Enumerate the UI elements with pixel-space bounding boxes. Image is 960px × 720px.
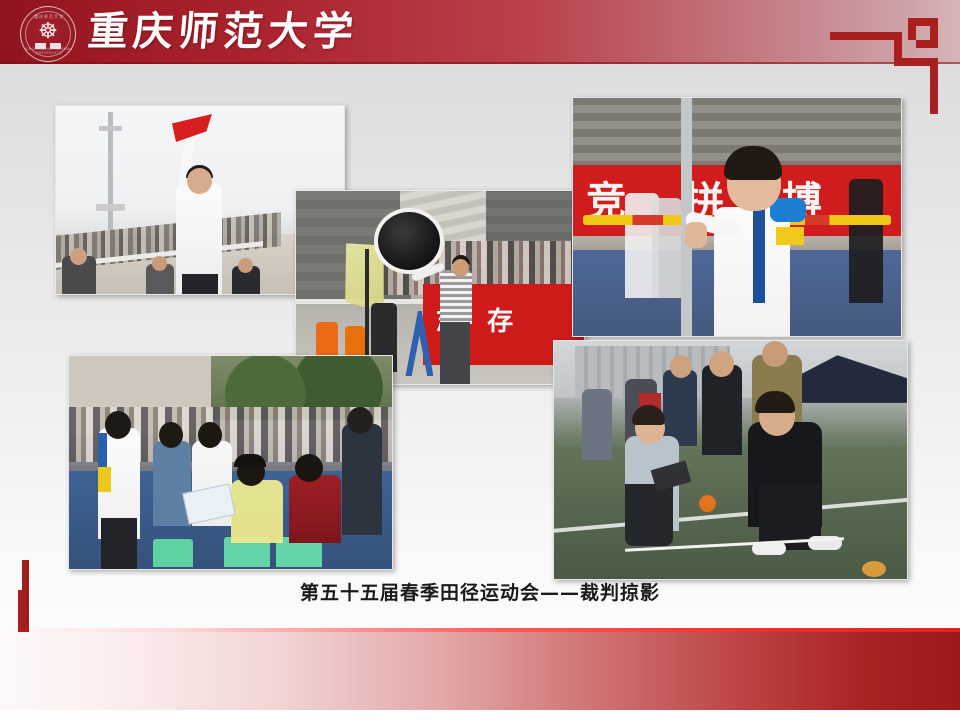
seal-emblem-icon: ☸: [38, 21, 58, 43]
photo4-judge-a-legs: [101, 518, 137, 569]
photo5-female-judge-hair: [632, 405, 665, 425]
photo1-referee-head: [187, 168, 212, 194]
seal-arc-bottom-text: CHONGQING NORMAL UNIVERSITY: [21, 47, 77, 55]
photo-high-jump-bar-judge[interactable]: 竞 拼 搏: [572, 97, 902, 337]
photo4-judge-cap: [234, 454, 266, 467]
photo3-judge-cuff: [776, 227, 804, 245]
photo4-stool-c: [153, 539, 193, 567]
photo5-shot-marker: [699, 495, 716, 512]
photo4-judge-b-body: [153, 441, 191, 526]
photo4-standing-man: [342, 424, 382, 535]
footer-white-strip: [0, 710, 960, 720]
university-seal-logo: 重庆师范大学 ☸ CHONGQING NORMAL UNIVERSITY: [20, 6, 76, 62]
photo5-bystander-a: [663, 370, 697, 446]
slide-header: 重庆师范大学 ☸ CHONGQING NORMAL UNIVERSITY 重庆师…: [0, 0, 960, 64]
university-name-title: 重庆师范大学: [86, 4, 361, 60]
photo1-athlete-c-head: [238, 258, 253, 273]
slide-caption: 第五十五届春季田径运动会——裁判掠影: [0, 578, 960, 605]
photo3-judge-jacket-stripe: [753, 207, 765, 302]
photo1-antenna-mast: [108, 112, 113, 230]
photo1-athlete-a-head: [70, 248, 87, 265]
photo5-bystander-b-head: [709, 351, 734, 377]
photo-judges-reviewing-results[interactable]: [68, 355, 393, 570]
photo3-judge-hand: [685, 222, 707, 248]
photo1-athlete-b-head: [152, 256, 167, 271]
photo-judges-measuring-field[interactable]: [553, 340, 908, 580]
photo4-judge-red-jacket: [289, 475, 341, 543]
photo5-female-judge-legs: [625, 484, 673, 546]
photo4-judge-a-cuff: [98, 467, 111, 493]
photo2-starter-head: [452, 259, 469, 277]
photo5-bystander-e: [582, 389, 612, 460]
photo3-background-person-c: [849, 179, 883, 303]
footer-gradient-band: [0, 632, 960, 710]
slide-root: 重庆师范大学 ☸ CHONGQING NORMAL UNIVERSITY 重庆师…: [0, 0, 960, 720]
photo2-starter-legs: [440, 322, 470, 384]
photo2-starter-body: [440, 270, 472, 324]
photo5-bystander-b: [702, 365, 742, 455]
photo4-standing-man-head: [347, 407, 373, 434]
photo4-judge-raincoat: [231, 480, 283, 544]
photo4-judge-a-head: [105, 411, 131, 439]
photo5-shot-ball: [862, 561, 886, 577]
photo3-background-person-b: [652, 198, 682, 298]
photo2-pole: [365, 249, 369, 373]
photo1-referee-legs: [182, 274, 218, 295]
photo4-judge-red-jacket-head: [295, 454, 323, 482]
